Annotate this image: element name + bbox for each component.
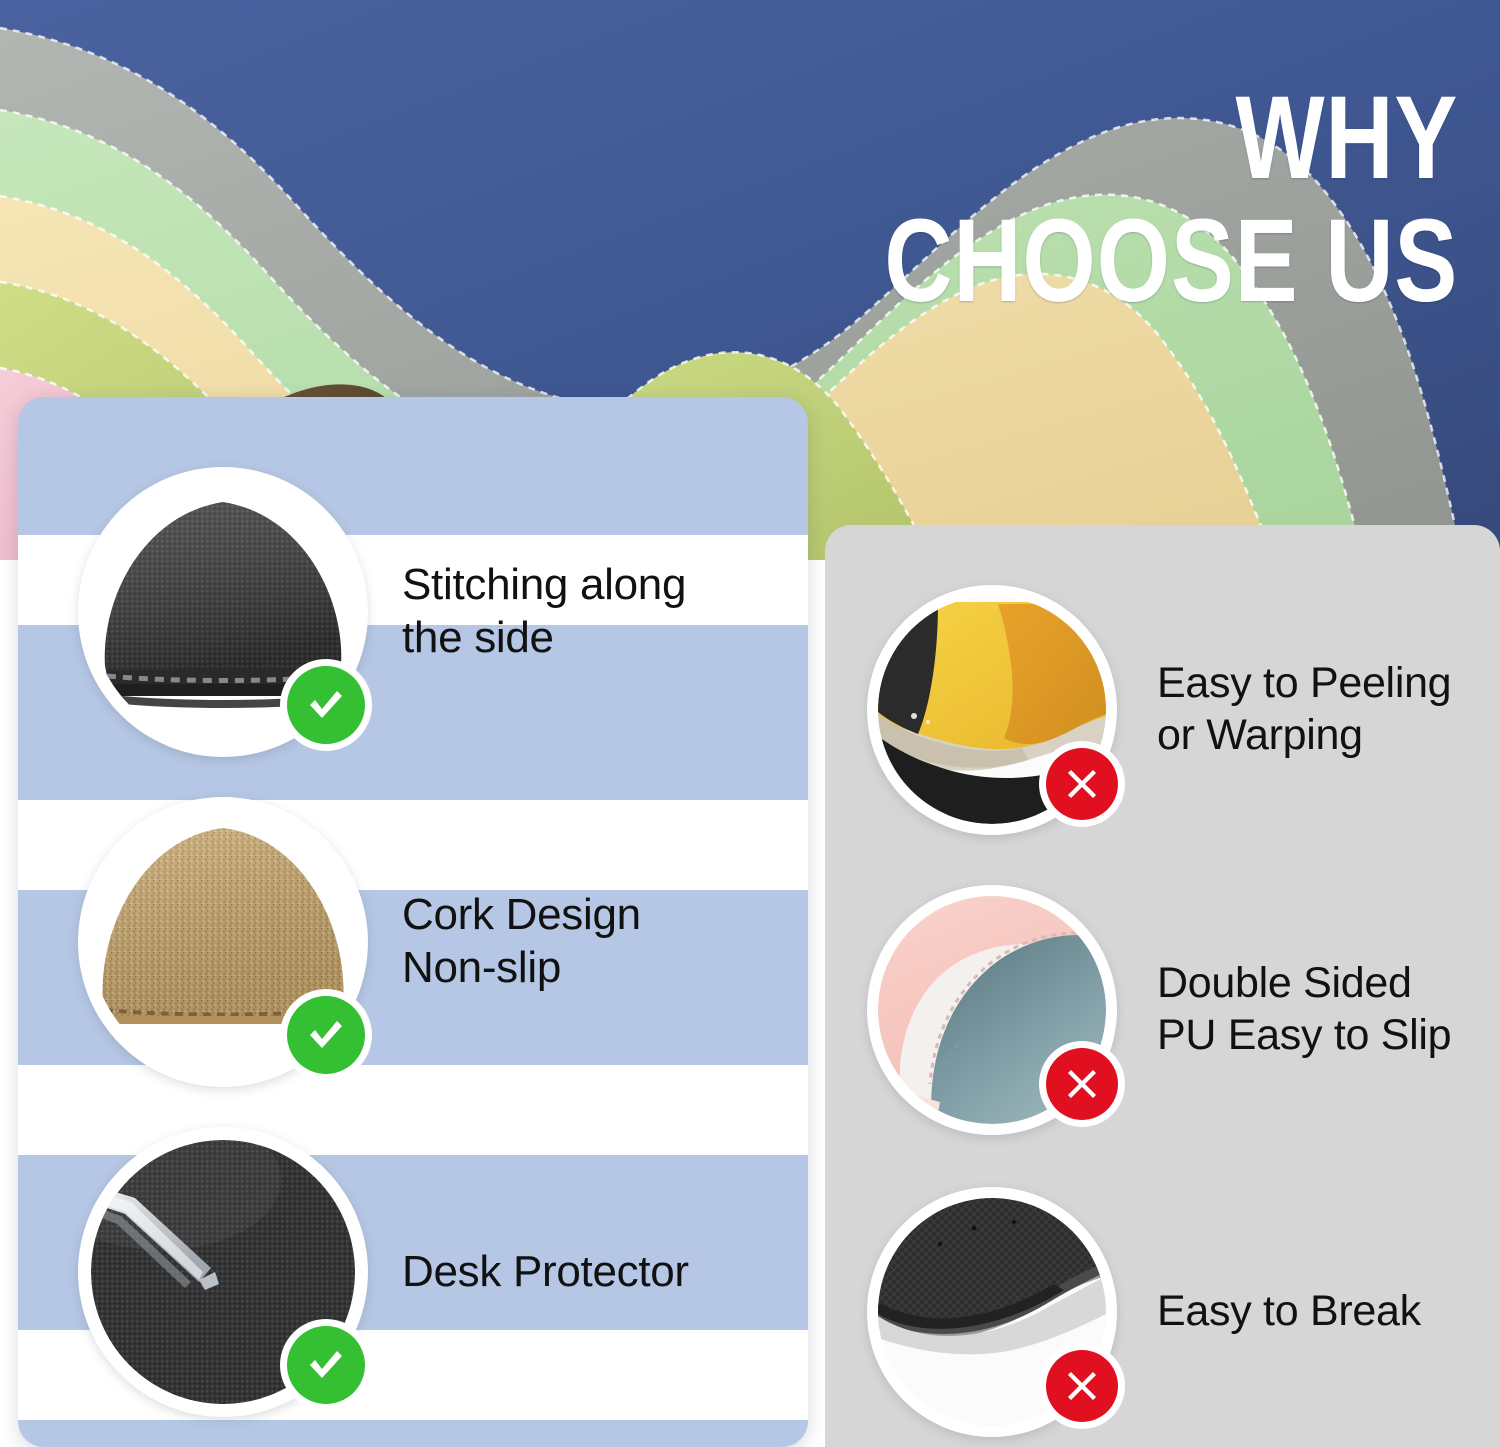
pro-image-2 [78, 797, 368, 1087]
pro-label-2: Cork Design Non-slip [402, 889, 641, 995]
pro-row-3: Desk Protector [78, 1127, 689, 1417]
con-label-3: Easy to Break [1157, 1286, 1421, 1338]
cross-glyph [1062, 764, 1102, 804]
check-glyph [303, 682, 349, 728]
check-icon [280, 989, 372, 1081]
pro-row-2: Cork Design Non-slip [78, 797, 641, 1087]
cross-icon [1039, 741, 1125, 827]
con-label-1: Easy to Peeling or Warping [1157, 658, 1451, 761]
pros-panel: Stitching along the side [18, 397, 808, 1447]
con-row-2: Double Sided PU Easy to Slip [867, 885, 1451, 1135]
pro-image-3 [78, 1127, 368, 1417]
pro-label-1: Stitching along the side [402, 559, 686, 665]
check-glyph [303, 1012, 349, 1058]
con-row-1: Easy to Peeling or Warping [867, 585, 1451, 835]
cons-panel: Easy to Peeling or Warping [825, 525, 1500, 1447]
pro-label-3: Desk Protector [402, 1246, 689, 1299]
pro-image-1 [78, 467, 368, 757]
cross-glyph [1062, 1366, 1102, 1406]
check-icon [280, 1319, 372, 1411]
con-image-1 [867, 585, 1117, 835]
con-image-3 [867, 1187, 1117, 1437]
check-icon [280, 659, 372, 751]
con-row-3: Easy to Break [867, 1187, 1421, 1437]
check-glyph [303, 1342, 349, 1388]
cross-icon [1039, 1343, 1125, 1429]
pro-row-1: Stitching along the side [78, 467, 686, 757]
con-image-2 [867, 885, 1117, 1135]
con-label-2: Double Sided PU Easy to Slip [1157, 958, 1451, 1061]
cross-glyph [1062, 1064, 1102, 1104]
cross-icon [1039, 1041, 1125, 1127]
